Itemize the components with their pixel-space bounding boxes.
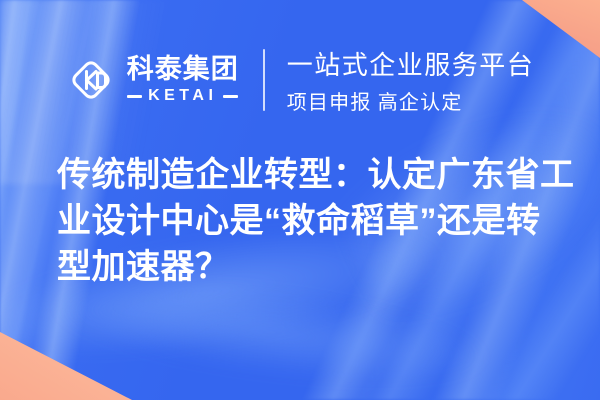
- title-line-3: 型加速器？: [57, 244, 567, 290]
- tagline-secondary: 项目申报 高企认定: [287, 86, 535, 115]
- brand-wordmark: 科泰集团 KETAI: [127, 56, 239, 104]
- dash-right-icon: [223, 95, 238, 98]
- tagline-block: 一站式企业服务平台 项目申报 高企认定: [287, 45, 535, 115]
- dash-left-icon: [127, 95, 142, 98]
- promo-banner: 科泰集团 KETAI 一站式企业服务平台 项目申报 高企认定 传统制造企业转型：…: [0, 0, 600, 400]
- brand-name-cn: 科泰集团: [127, 56, 239, 83]
- ketai-diamond-kd-monogram-icon: [66, 55, 116, 105]
- title-line-1: 传统制造企业转型：认定广东省工: [57, 152, 567, 198]
- brand-name-en-row: KETAI: [127, 88, 239, 104]
- page-title: 传统制造企业转型：认定广东省工 业设计中心是“救命稻草”还是转 型加速器？: [57, 152, 567, 290]
- header-divider: [263, 49, 265, 111]
- brand-name-en: KETAI: [148, 88, 217, 104]
- tagline-primary: 一站式企业服务平台: [287, 45, 535, 82]
- title-line-2: 业设计中心是“救命稻草”还是转: [57, 198, 567, 244]
- banner-header: 科泰集团 KETAI 一站式企业服务平台 项目申报 高企认定: [0, 44, 600, 116]
- brand-logo[interactable]: 科泰集团 KETAI: [66, 55, 239, 105]
